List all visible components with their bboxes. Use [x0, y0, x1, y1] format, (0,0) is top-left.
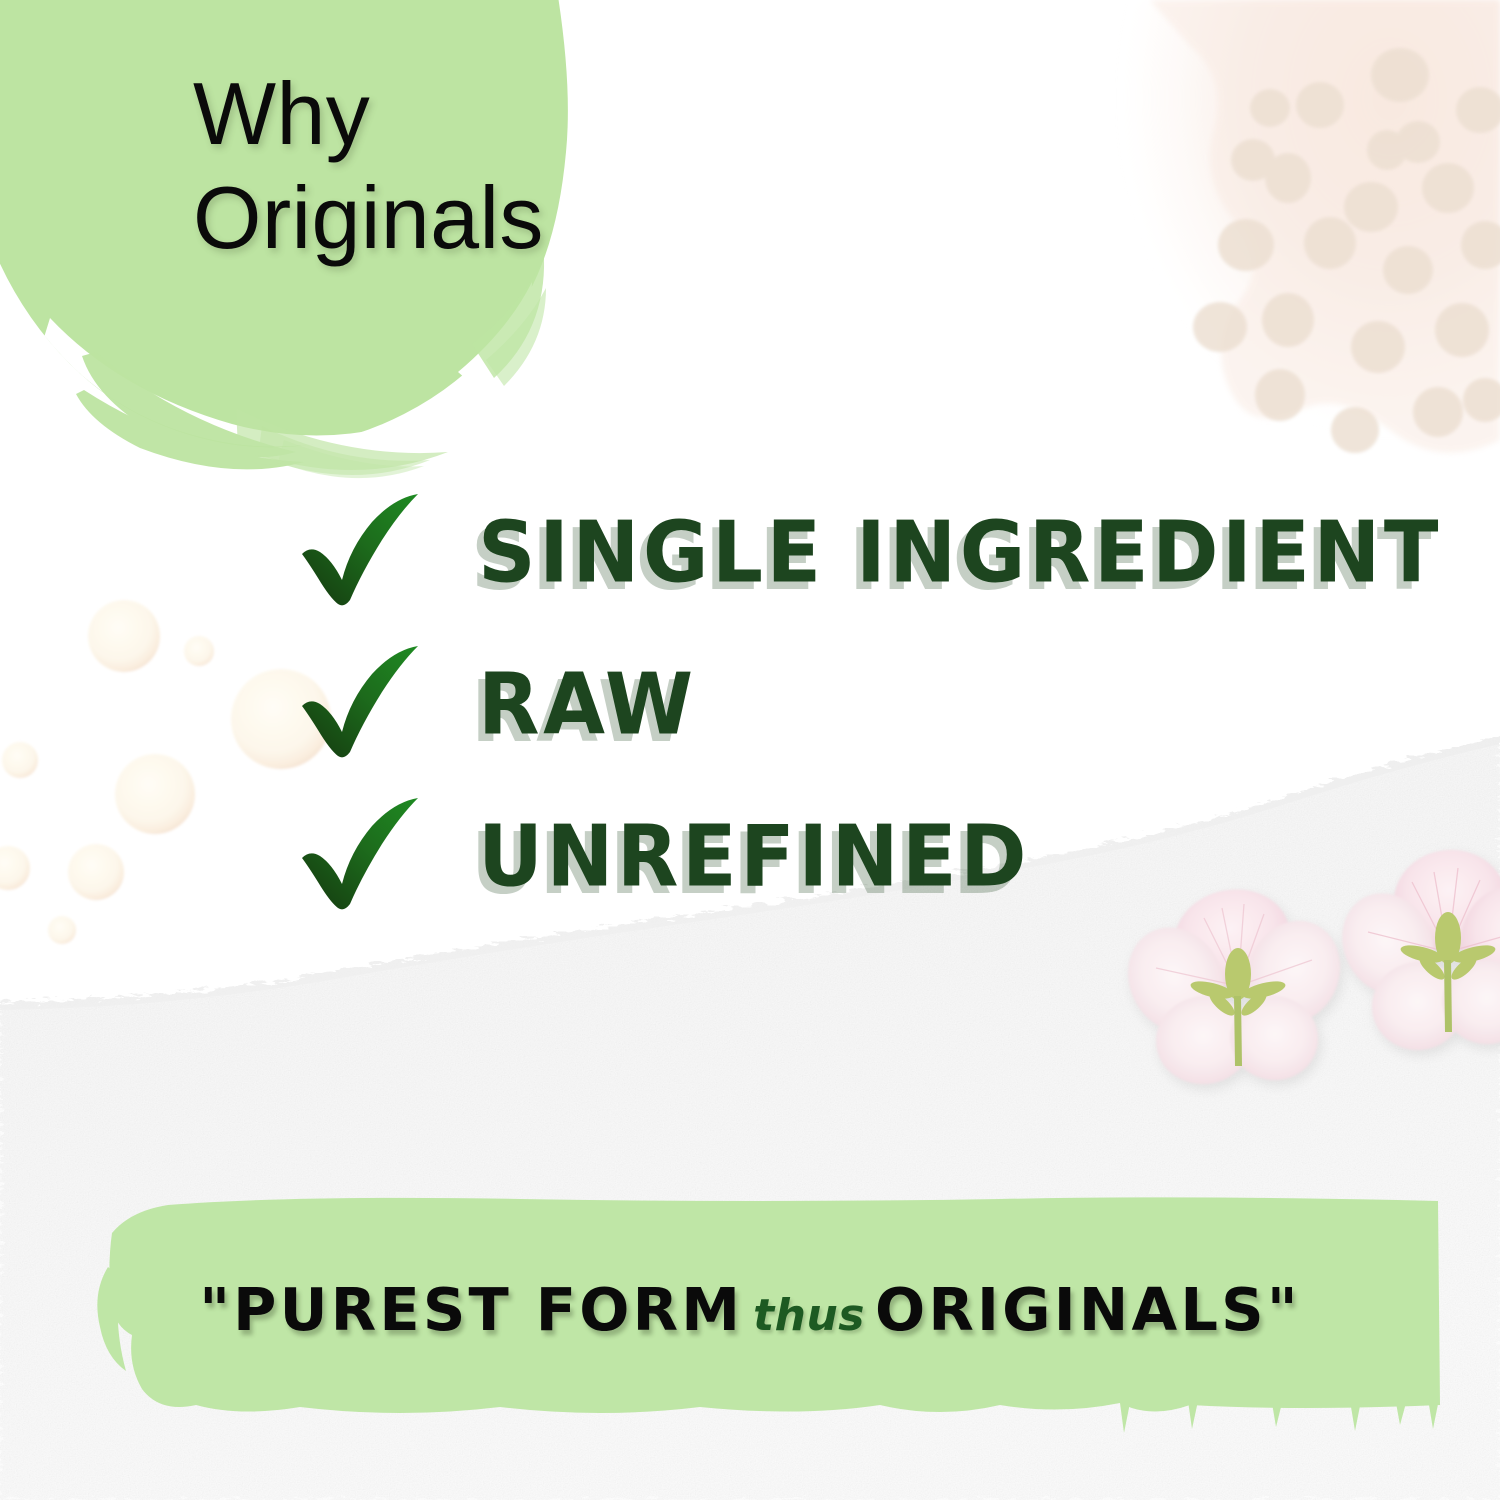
check-mark-icon — [296, 492, 428, 612]
list-item: SINGLE INGREDIENT — [296, 476, 1442, 628]
list-item: RAW — [296, 628, 1442, 780]
quote-text: "PUREST FORMthusORIGINALS" — [0, 1275, 1500, 1344]
list-item-label: RAW — [478, 655, 697, 754]
page-title: Why Originals — [193, 62, 613, 270]
list-item: UNREFINED — [296, 780, 1442, 932]
quote-open: "PUREST FORM — [199, 1275, 743, 1344]
benefits-checklist: SINGLE INGREDIENT RAW — [296, 476, 1442, 932]
title-line-2: Originals — [193, 166, 613, 270]
list-item-label: SINGLE INGREDIENT — [478, 503, 1442, 602]
check-mark-icon — [296, 644, 428, 764]
quote-emphasis: thus — [743, 1290, 875, 1341]
check-mark-icon — [296, 796, 428, 916]
title-line-1: Why — [193, 62, 613, 166]
quote-close: ORIGINALS" — [875, 1275, 1301, 1344]
poster-canvas: Why Originals — [0, 0, 1500, 1500]
list-item-label: UNREFINED — [478, 807, 1030, 906]
